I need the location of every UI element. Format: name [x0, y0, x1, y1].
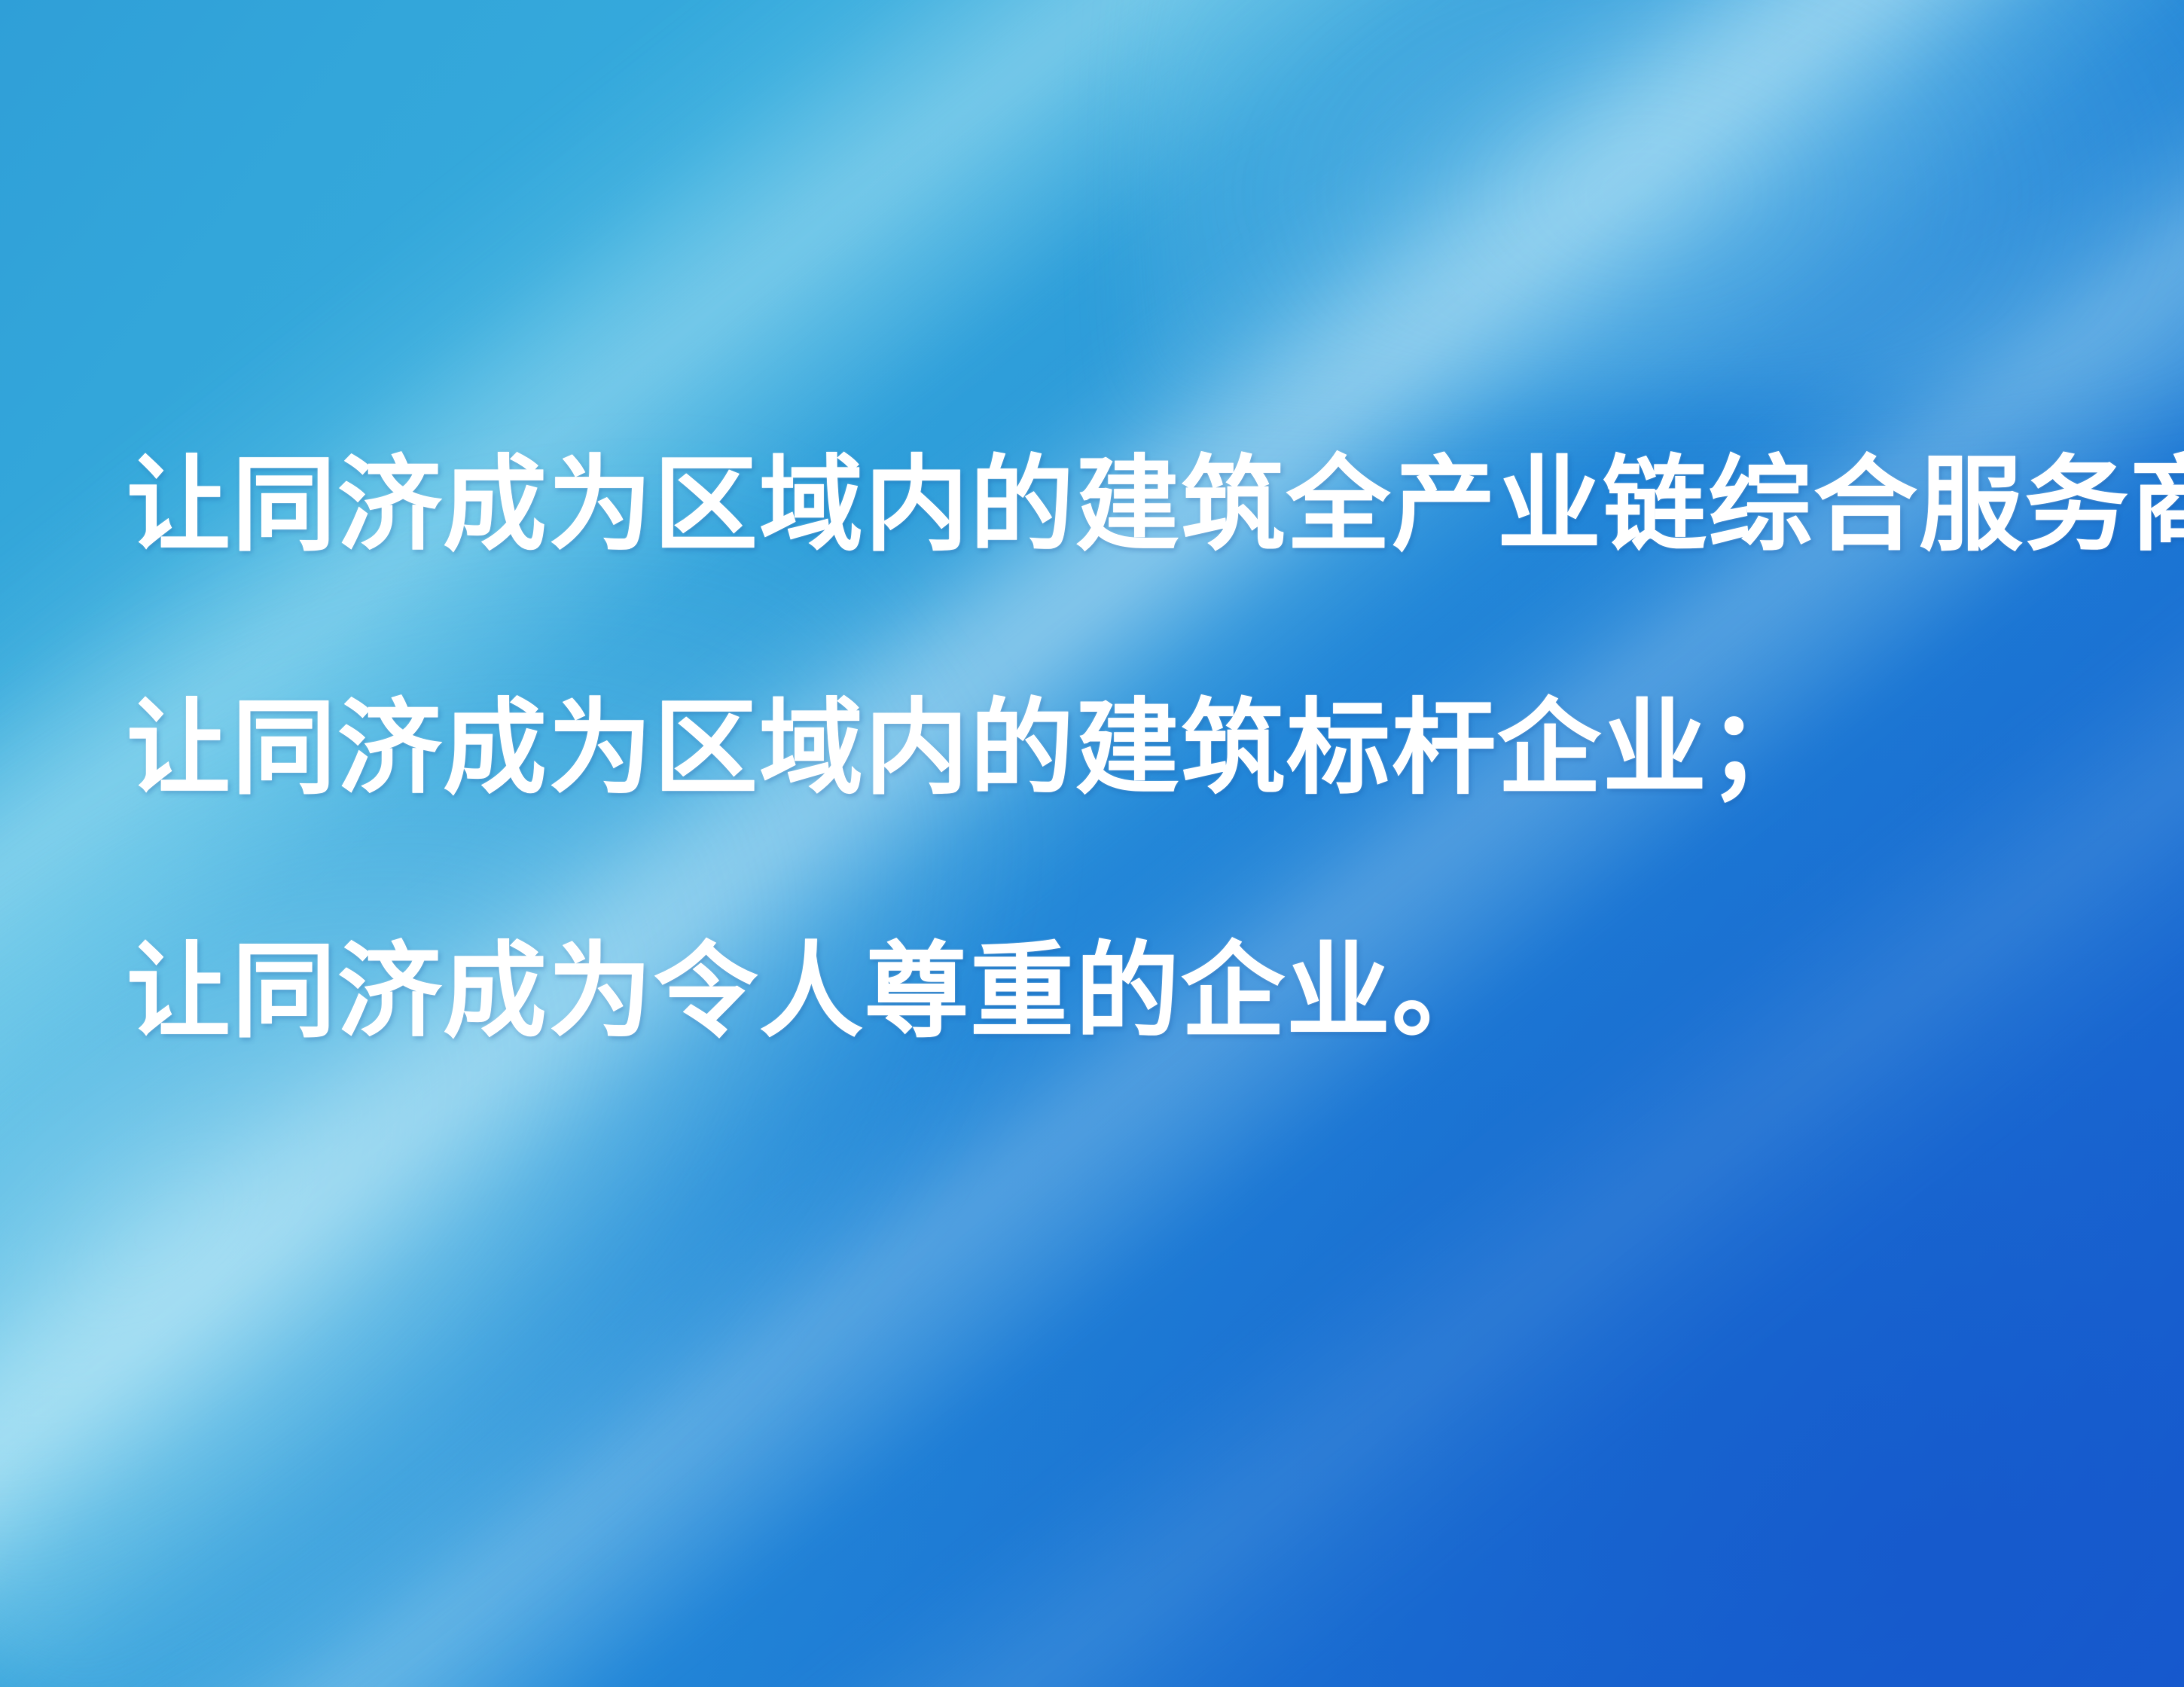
vision-line-3: 让同济成为令人尊重的企业。 — [127, 938, 2100, 1045]
presentation-slide: 让同济成为区域内的建筑全产业链综合服务商； 让同济成为区域内的建筑标杆企业； 让… — [0, 0, 2184, 1687]
vision-line-1: 让同济成为区域内的建筑全产业链综合服务商； — [127, 452, 2100, 558]
vision-statement-block: 让同济成为区域内的建筑全产业链综合服务商； 让同济成为区域内的建筑标杆企业； 让… — [127, 452, 2100, 1044]
vision-line-2: 让同济成为区域内的建筑标杆企业； — [127, 695, 2100, 801]
